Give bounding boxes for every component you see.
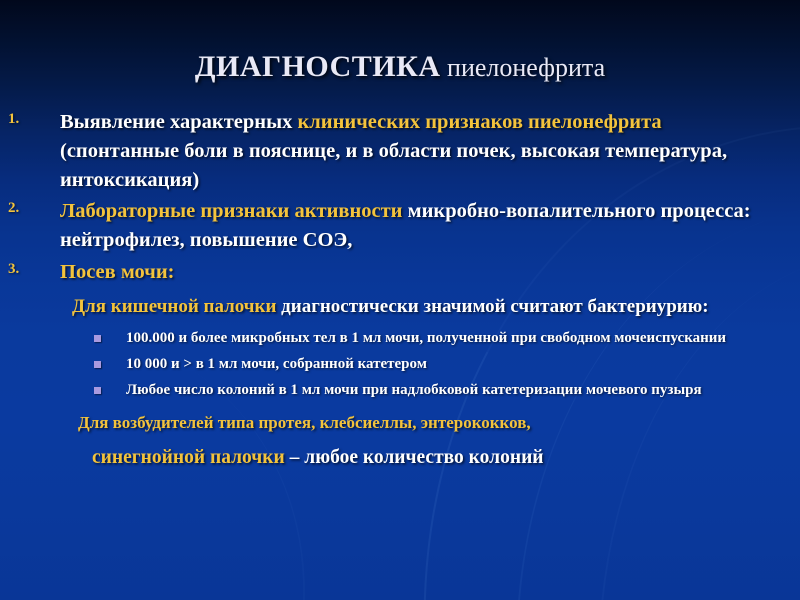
slide-title-main: ДИАГНОСТИКА	[195, 50, 441, 83]
text-segment: клинических признаков пиелонефрита	[297, 111, 661, 133]
numbered-list-item-text: Лабораторные признаки активности микробн…	[60, 197, 782, 255]
text-segment: Для возбудителей типа протея, клебсиеллы…	[78, 413, 531, 432]
numbered-list-item-text: Выявление характерных клинических призна…	[60, 108, 782, 195]
list-number-marker: 3.	[8, 261, 44, 278]
numbered-list-item: 1.Выявление характерных клинических приз…	[0, 108, 800, 195]
square-bullet-icon	[94, 387, 101, 394]
text-segment: – любое количество колоний	[285, 447, 544, 468]
tail-lines: Для возбудителей типа протея, клебсиеллы…	[0, 411, 800, 471]
bullet-list-item: 100.000 и более микробных тел в 1 мл моч…	[0, 328, 800, 349]
text-segment: диагностически значимой считают бактериу…	[276, 296, 708, 317]
sub-paragraph-ecoli: Для кишечной палочки диагностически знач…	[0, 293, 800, 321]
list-number-marker: 1.	[8, 111, 44, 128]
bullet-list-item-text: 100.000 и более микробных тел в 1 мл моч…	[126, 330, 726, 346]
bullet-list-item-text: 10 000 и > в 1 мл мочи, собранной катете…	[126, 356, 427, 372]
text-segment: синегнойной палочки	[92, 447, 285, 468]
numbered-list-item-text: Посев мочи:	[60, 258, 782, 287]
text-segment: Посев мочи:	[60, 261, 174, 283]
slide-title-sub: пиелонефрита	[441, 53, 606, 82]
numbered-list: 1.Выявление характерных клинических приз…	[0, 108, 800, 287]
list-number-marker: 2.	[8, 200, 44, 217]
slide-body: 1.Выявление характерных клинических приз…	[0, 108, 800, 471]
bullet-list-item: 10 000 и > в 1 мл мочи, собранной катете…	[0, 354, 800, 375]
text-segment: (спонтанные боли в пояснице, и в области…	[60, 140, 727, 191]
bullet-list-item-text: Любое число колоний в 1 мл мочи при надл…	[126, 382, 702, 398]
bullet-list-item: Любое число колоний в 1 мл мочи при надл…	[0, 380, 800, 401]
square-bullet-icon	[94, 361, 101, 368]
tail-line: Для возбудителей типа протея, клебсиеллы…	[0, 411, 800, 435]
text-segment: Для кишечной палочки	[72, 296, 276, 317]
numbered-list-item: 3.Посев мочи:	[0, 258, 800, 287]
square-bullet-icon	[94, 335, 101, 342]
numbered-list-item: 2.Лабораторные признаки активности микро…	[0, 197, 800, 255]
text-segment: Выявление характерных	[60, 111, 297, 133]
bullet-list: 100.000 и более микробных тел в 1 мл моч…	[0, 328, 800, 401]
text-segment: Лабораторные признаки активности	[60, 200, 403, 222]
presentation-slide: ДИАГНОСТИКА пиелонефрита 1.Выявление хар…	[0, 0, 800, 600]
slide-title: ДИАГНОСТИКА пиелонефрита	[0, 50, 800, 83]
tail-line: синегнойной палочки – любое количество к…	[0, 444, 800, 471]
